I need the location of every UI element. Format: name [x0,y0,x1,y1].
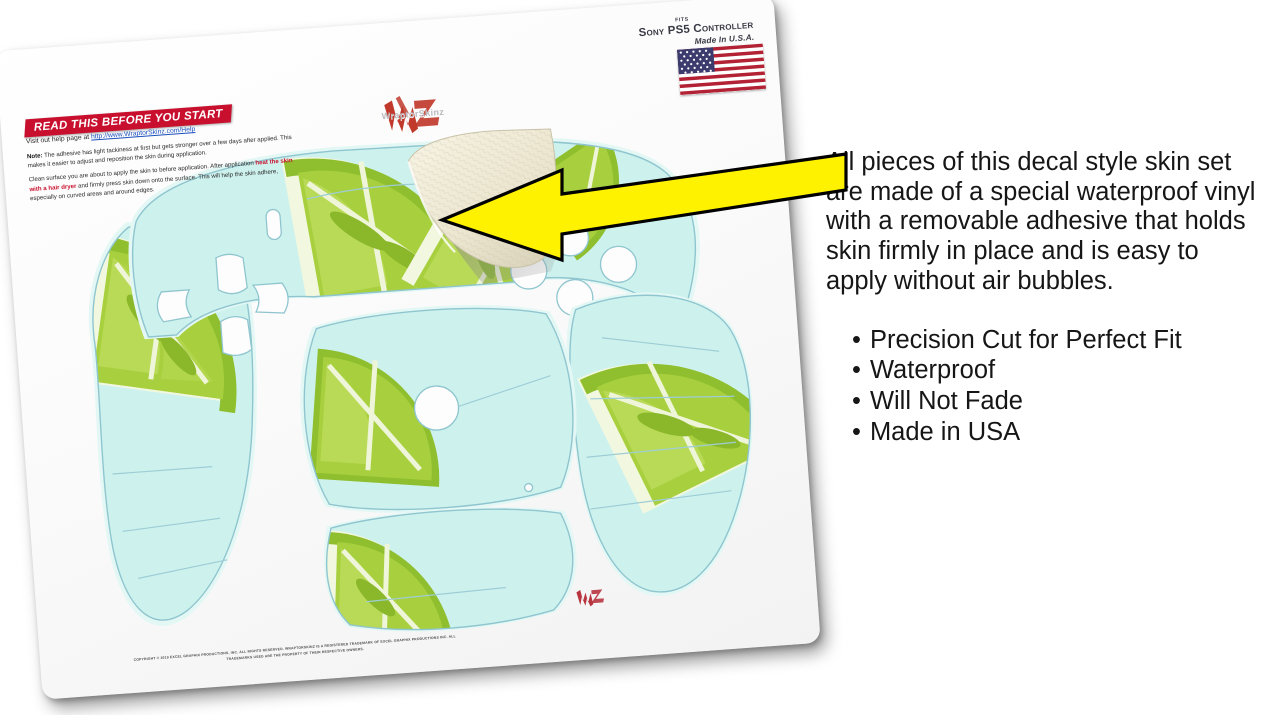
wz-watermark-icon [568,586,611,611]
us-flag [677,43,766,95]
decal-sheet: .skinbg{fill:#cdf2ee;} .pith{fill:#f2f7d… [0,0,821,700]
wraptorskinz-logo: WraptorSkinz [352,91,475,144]
marketing-paragraph: All pieces of this decal style skin set … [826,148,1256,297]
peel-corner-arrow [430,148,850,268]
skin-piece-right-grip [544,265,803,621]
feature-bullet-list: Precision Cut for Perfect Fit Waterproof… [826,325,1256,449]
feature-bullet: Made in USA [852,417,1256,448]
sheet-paper: .skinbg{fill:#cdf2ee;} .pith{fill:#f2f7d… [0,0,821,700]
product-image-canvas: .skinbg{fill:#cdf2ee;} .pith{fill:#f2f7d… [0,0,1280,715]
feature-bullet: Will Not Fade [852,386,1256,417]
marketing-copy: All pieces of this decal style skin set … [826,148,1256,448]
skin-piece-center [285,289,600,530]
feature-bullet: Precision Cut for Perfect Fit [852,325,1256,356]
feature-bullet: Waterproof [852,355,1256,386]
